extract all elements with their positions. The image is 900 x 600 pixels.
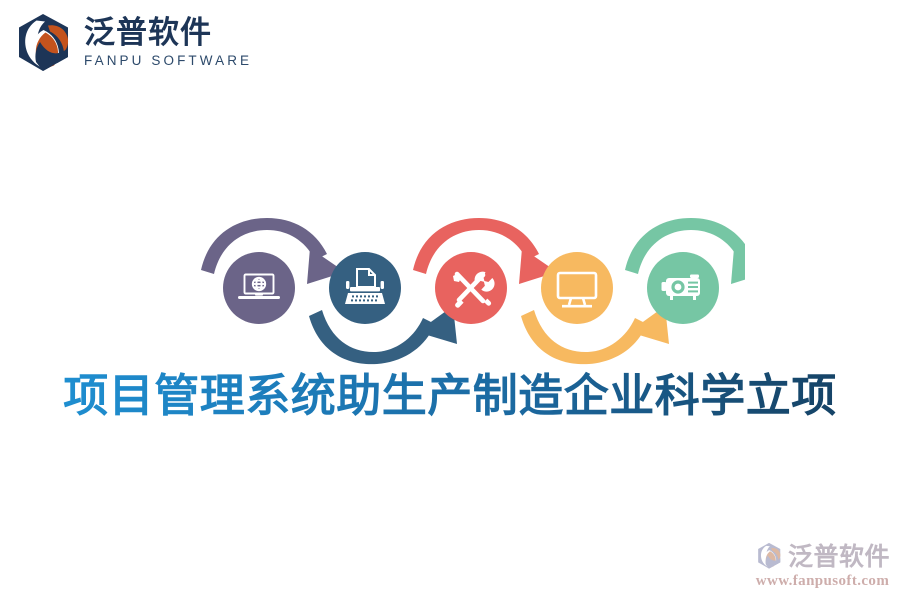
watermark-url: www.fanpusoft.com — [756, 571, 889, 592]
watermark-row: 泛普软件 — [755, 542, 890, 570]
process-flow-graphic — [185, 210, 745, 370]
fanpu-hexagon-logo-icon — [755, 542, 783, 570]
brand-text-block: 泛普软件 FANPU SOFTWARE — [84, 15, 252, 72]
flow-step-tools[interactable] — [435, 252, 507, 324]
brand-header: 泛普软件 FANPU SOFTWARE — [12, 12, 252, 74]
flow-step-projector[interactable] — [647, 252, 719, 324]
brand-name-en: FANPU SOFTWARE — [84, 49, 252, 71]
watermark-brand-name: 泛普软件 — [788, 544, 890, 569]
watermark: 泛普软件 www.fanpusoft.com — [755, 542, 890, 592]
flow-step-laptop-globe[interactable] — [223, 252, 295, 324]
fanpu-hexagon-logo-icon — [12, 12, 74, 74]
flow-step-monitor[interactable] — [541, 252, 613, 324]
brand-name-cn: 泛普软件 — [84, 17, 252, 50]
flow-step-typewriter[interactable] — [329, 252, 401, 324]
page-title: 项目管理系统助生产制造企业科学立项 — [0, 368, 900, 424]
